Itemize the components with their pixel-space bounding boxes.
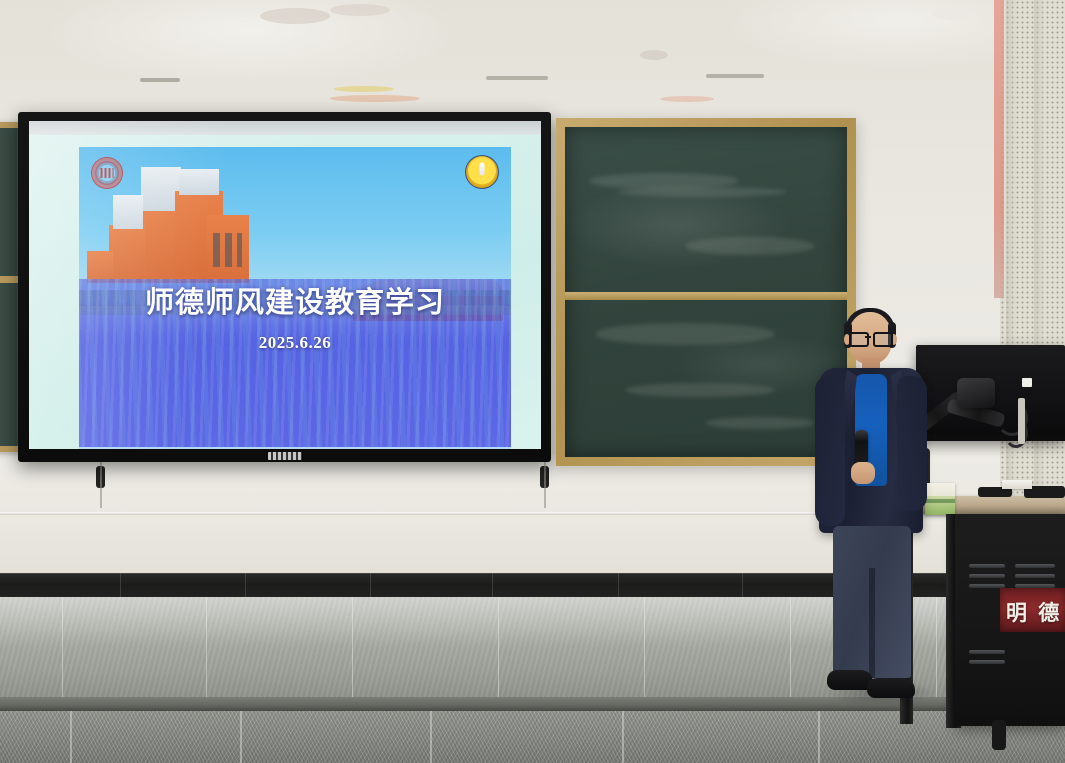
glasses-icon bbox=[849, 332, 869, 347]
glasses-icon bbox=[873, 332, 893, 347]
trouser-leg-gap bbox=[869, 568, 875, 678]
slide-building-window bbox=[213, 233, 220, 267]
slide-title: 师德师风建设教育学习 bbox=[79, 279, 511, 321]
chalkboard-divider bbox=[0, 276, 18, 283]
wall-cable-clip bbox=[1018, 398, 1025, 444]
shoe bbox=[867, 678, 915, 698]
green-chalkboard bbox=[556, 118, 856, 466]
slide-building-window bbox=[225, 233, 232, 267]
lectern-caster bbox=[992, 720, 1006, 750]
gold-circular-emblem bbox=[465, 155, 499, 189]
slide-building-glass bbox=[113, 195, 143, 229]
slide-building-wing bbox=[109, 225, 145, 283]
interactive-flat-panel[interactable]: 师德师风建设教育学习 2025.6.26 bbox=[18, 112, 551, 462]
lectern-motto-text: 明 德 bbox=[1006, 597, 1062, 627]
lectern-motto-sign: 明 德 bbox=[1000, 588, 1065, 632]
slide-building-glass bbox=[179, 169, 219, 195]
glasses-bridge bbox=[865, 336, 871, 338]
screen-brand-label bbox=[268, 452, 302, 460]
screen-top-rail bbox=[29, 121, 541, 135]
classroom-scene: 师德师风建设教育学习 2025.6.26 bbox=[0, 0, 1065, 763]
slide-date: 2025.6.26 bbox=[79, 333, 511, 353]
projection-surface[interactable]: 师德师风建设教育学习 2025.6.26 bbox=[29, 121, 541, 449]
slide-building-window bbox=[237, 233, 242, 267]
monitor-arm-joint[interactable] bbox=[957, 378, 995, 408]
hand bbox=[851, 462, 875, 484]
monitor-sticker bbox=[1022, 378, 1032, 387]
screen-mount-wire bbox=[100, 462, 102, 508]
papers[interactable] bbox=[1002, 480, 1032, 489]
screen-mount-wire bbox=[544, 462, 546, 508]
slide-lower-band bbox=[79, 447, 511, 449]
right-arm bbox=[897, 376, 927, 511]
presenting-teacher bbox=[815, 312, 935, 730]
presentation-slide: 师德师风建设教育学习 2025.6.26 bbox=[79, 147, 511, 447]
school-crest-emblem bbox=[91, 157, 123, 189]
wall-pink-strip bbox=[994, 0, 1004, 298]
left-arm bbox=[815, 376, 845, 526]
monitor-chin bbox=[916, 434, 1065, 441]
chalkboard-divider bbox=[565, 292, 847, 300]
